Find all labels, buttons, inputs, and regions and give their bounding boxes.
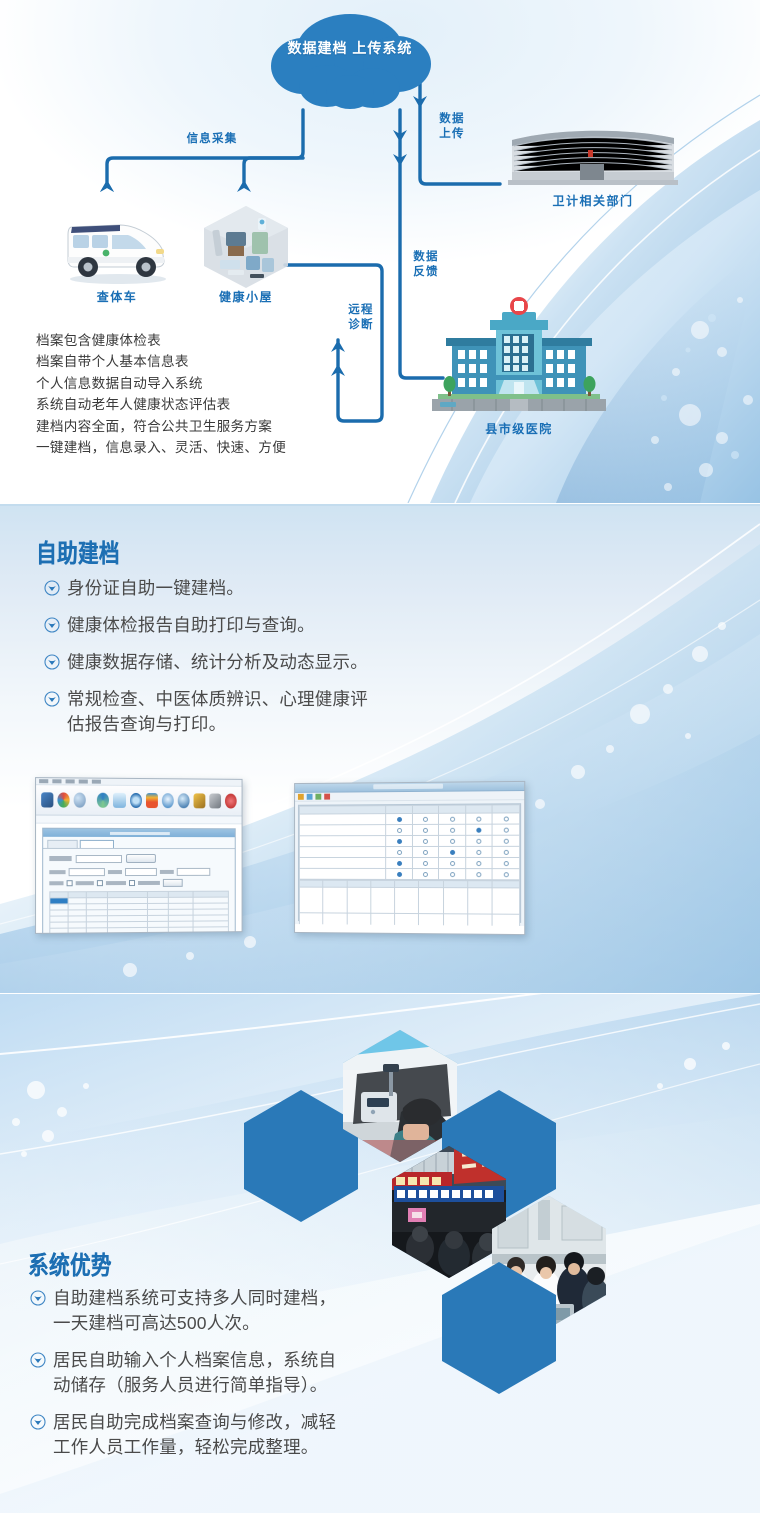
chevron-down-circle-icon — [30, 1414, 46, 1430]
label-data-feedback: 数据 反馈 — [406, 250, 446, 280]
screenshot-archive-manager[interactable] — [35, 777, 243, 934]
radio[interactable] — [477, 872, 482, 877]
chevron-down-circle-icon — [44, 580, 60, 596]
question-row[interactable] — [299, 846, 519, 857]
radio[interactable] — [477, 849, 482, 854]
radio-selected[interactable] — [450, 849, 455, 854]
feature-line: 个人信息数据自动导入系统 — [36, 373, 286, 394]
list-item-text: 身份证自助一键建档。 — [67, 576, 244, 601]
radio-selected[interactable] — [477, 827, 482, 832]
table-row[interactable] — [50, 927, 229, 934]
text-input[interactable] — [125, 868, 157, 876]
label-info-collection: 信息采集 — [166, 132, 258, 147]
list-item: 健康数据存储、统计分析及动态显示。 — [44, 650, 514, 675]
list-item-text: 自助建档系统可支持多人同时建档， 一天建档可高达500人次。 — [53, 1286, 336, 1336]
radio-selected[interactable] — [397, 817, 402, 822]
query-button[interactable] — [126, 854, 156, 863]
radio[interactable] — [503, 838, 508, 843]
radio[interactable] — [503, 849, 508, 854]
toolbar-icon[interactable] — [130, 793, 142, 808]
window-titlebar — [295, 782, 524, 793]
node-medical-van-caption: 查体车 — [62, 288, 172, 305]
node-health-cabin-art — [200, 204, 292, 295]
list-item: 身份证自助一键建档。 — [44, 576, 514, 601]
table-row[interactable] — [299, 887, 519, 914]
date-input[interactable] — [76, 854, 122, 862]
radio[interactable] — [450, 861, 455, 866]
chevron-down-circle-icon — [30, 1290, 46, 1306]
tab-item[interactable] — [47, 840, 77, 848]
screenshot-assessment-form[interactable] — [294, 781, 525, 935]
toolbar-icon[interactable] — [177, 793, 189, 808]
question-row[interactable] — [299, 868, 519, 879]
section-system-advantages: 系统优势 自助建档系统可支持多人同时建档， 一天建档可高达500人次。 居民自助… — [0, 994, 760, 1513]
checkbox[interactable] — [67, 880, 73, 886]
feature-line: 系统自动老年人健康状态评估表 — [36, 394, 286, 415]
node-medical-van-art — [62, 205, 172, 290]
radio-selected[interactable] — [397, 860, 402, 865]
section1-feature-list: 档案包含健康体检表 档案自带个人基本信息表 个人信息数据自动导入系统 系统自动老… — [36, 330, 286, 458]
toolbar-icon[interactable] — [113, 793, 125, 808]
section-self-service: 自助建档 身份证自助一键建档。 健康体检报告自助打印与查询。 健康数据存储、统计… — [0, 504, 760, 993]
radio[interactable] — [450, 872, 455, 877]
radio[interactable] — [477, 838, 482, 843]
label-remote-diagnosis: 远程 诊断 — [341, 303, 381, 333]
list-item-text: 健康体检报告自助打印与查询。 — [67, 613, 315, 638]
toolbar-icon[interactable] — [146, 793, 158, 808]
radio[interactable] — [477, 816, 482, 821]
chevron-down-circle-icon — [44, 691, 60, 707]
health-cabin-icon — [200, 204, 292, 290]
van-icon — [62, 205, 172, 285]
node-health-authority-art — [508, 120, 678, 193]
text-input[interactable] — [69, 868, 105, 876]
question-row[interactable] — [299, 835, 519, 846]
radio[interactable] — [423, 849, 428, 854]
list-item-text: 居民自助输入个人档案信息，系统自 动储存（服务人员进行简单指导）。 — [53, 1348, 336, 1398]
section2-title: 自助建档 — [36, 534, 120, 570]
list-item: 常规检查、中医体质辨识、心理健康评 估报告查询与打印。 — [44, 687, 514, 737]
radio[interactable] — [503, 872, 508, 877]
hospital-building-icon — [424, 296, 614, 414]
chevron-down-circle-icon — [44, 654, 60, 670]
section3-title: 系统优势 — [28, 1246, 112, 1282]
feature-line: 一键建档，信息录入、灵活、快速、方便 — [36, 437, 286, 458]
feature-line: 建档内容全面，符合公共卫生服务方案 — [36, 416, 286, 437]
toolbar-icon[interactable] — [225, 794, 237, 809]
radio[interactable] — [503, 816, 508, 821]
data-table[interactable] — [49, 891, 229, 934]
feature-line: 档案自带个人基本信息表 — [36, 351, 286, 372]
list-item-text: 健康数据存储、统计分析及动态显示。 — [67, 650, 368, 675]
checkbox[interactable] — [97, 880, 103, 886]
section2-bullet-list: 身份证自助一键建档。 健康体检报告自助打印与查询。 健康数据存储、统计分析及动态… — [44, 576, 514, 749]
checkbox[interactable] — [129, 880, 135, 886]
question-row[interactable] — [299, 813, 519, 825]
radio-selected[interactable] — [397, 871, 402, 876]
toolbar-icon[interactable] — [209, 793, 221, 808]
assessment-question-table[interactable] — [299, 804, 520, 880]
assessment-checkbox-grid[interactable] — [299, 880, 520, 926]
chevron-down-circle-icon — [30, 1352, 46, 1368]
list-item-text: 居民自助完成档案查询与修改，减轻 工作人员工作量，轻松完成整理。 — [53, 1410, 336, 1460]
list-item: 居民自助完成档案查询与修改，减轻 工作人员工作量，轻松完成整理。 — [30, 1410, 460, 1460]
list-item: 居民自助输入个人档案信息，系统自 动储存（服务人员进行简单指导）。 — [30, 1348, 460, 1398]
radio[interactable] — [503, 861, 508, 866]
label-data-upload: 数据 上传 — [432, 112, 472, 142]
section-data-flow: 数据建档 上传系统 信息采集 数据 上传 数据 反馈 远程 诊断 查体车 — [0, 0, 760, 503]
list-item-text: 常规检查、中医体质辨识、心理健康评 估报告查询与打印。 — [67, 687, 368, 737]
radio[interactable] — [450, 838, 455, 843]
hex-photo-van-interior — [343, 1030, 457, 1162]
radio-selected[interactable] — [397, 839, 402, 844]
question-row[interactable] — [299, 857, 519, 868]
section-divider — [0, 504, 760, 506]
question-row[interactable] — [299, 824, 519, 836]
poster-page: 数据建档 上传系统 信息采集 数据 上传 数据 反馈 远程 诊断 查体车 — [0, 0, 760, 1513]
node-health-authority-caption: 卫计相关部门 — [508, 192, 678, 209]
list-item: 健康体检报告自助打印与查询。 — [44, 613, 514, 638]
radio[interactable] — [450, 827, 455, 832]
node-county-hospital-caption: 县市级医院 — [424, 420, 614, 437]
radio[interactable] — [450, 816, 455, 821]
toolbar-icon[interactable] — [97, 793, 109, 808]
radio[interactable] — [503, 827, 508, 832]
radio[interactable] — [477, 861, 482, 866]
node-county-hospital-art — [424, 296, 614, 419]
text-input[interactable] — [177, 868, 211, 876]
table-row[interactable] — [299, 913, 519, 926]
section3-bullet-list: 自助建档系统可支持多人同时建档， 一天建档可高达500人次。 居民自助输入个人档… — [30, 1286, 460, 1472]
radio[interactable] — [397, 828, 402, 833]
toolbar-icon[interactable] — [58, 792, 70, 807]
radio[interactable] — [423, 872, 428, 877]
hex-solid-1 — [244, 1090, 358, 1222]
authority-building-icon — [508, 120, 678, 188]
cloud-label: 数据建档 上传系统 — [265, 38, 435, 58]
toolbar-icon[interactable] — [193, 793, 205, 808]
radio[interactable] — [397, 850, 402, 855]
toolbar — [36, 785, 242, 816]
tab-item-active[interactable] — [80, 840, 114, 848]
reset-button[interactable] — [163, 879, 183, 887]
radio[interactable] — [423, 838, 428, 843]
chevron-down-circle-icon — [44, 617, 60, 633]
photo-van-interior — [343, 1030, 457, 1162]
list-item: 自助建档系统可支持多人同时建档， 一天建档可高达500人次。 — [30, 1286, 460, 1336]
radio[interactable] — [423, 861, 428, 866]
cloud-system-node: 数据建档 上传系统 — [265, 8, 435, 116]
toolbar-icon[interactable] — [162, 793, 174, 808]
radio[interactable] — [423, 816, 428, 821]
toolbar-icon[interactable] — [41, 792, 53, 807]
radio[interactable] — [423, 827, 428, 832]
toolbar-icon[interactable] — [74, 793, 86, 808]
feature-line: 档案包含健康体检表 — [36, 330, 286, 351]
node-health-cabin-caption: 健康小屋 — [196, 288, 296, 305]
cloud-shape-icon — [265, 8, 435, 116]
